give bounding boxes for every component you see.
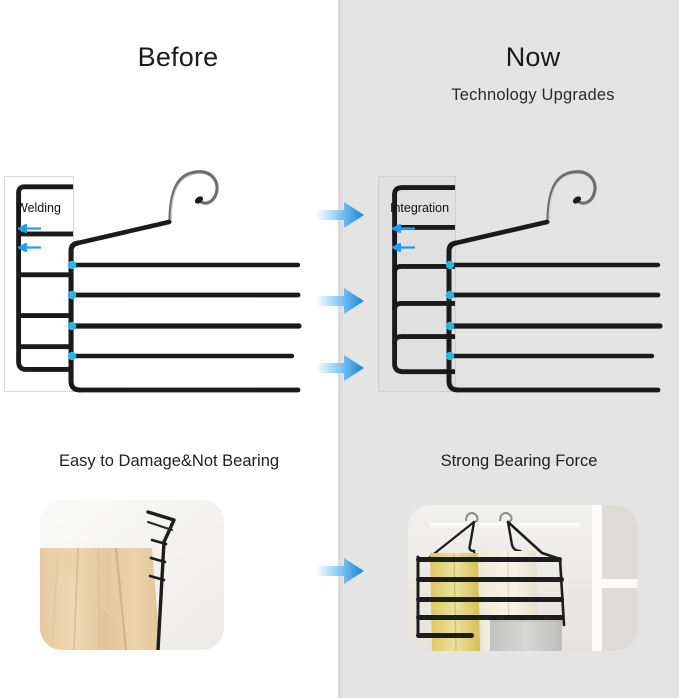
after-photo-scene <box>408 505 637 651</box>
before-photo <box>40 500 224 650</box>
now-title: Now <box>414 42 652 73</box>
joint-marker-icon <box>446 291 454 299</box>
panel-divider <box>338 0 344 698</box>
arrow-right-icon <box>316 287 364 315</box>
joint-marker-icon <box>68 322 76 330</box>
joint-marker-icon <box>68 261 76 269</box>
arrow-right-icon <box>316 354 364 382</box>
arrow-right-icon <box>316 201 364 229</box>
before-title: Before <box>60 42 296 73</box>
welding-label: Welding <box>16 201 61 215</box>
joint-marker-icon <box>446 322 454 330</box>
joint-marker-icon <box>446 352 454 360</box>
comparison-infographic: Before Now Technology Upgrades Welding <box>0 0 679 698</box>
before-hanger-illustration <box>66 150 328 400</box>
arrow-left-icon <box>18 243 42 252</box>
before-caption: Easy to Damage&Not Bearing <box>28 452 310 471</box>
integration-label: Integration <box>390 201 449 215</box>
now-subtitle: Technology Upgrades <box>394 86 672 105</box>
joint-marker-icon <box>68 291 76 299</box>
arrow-left-icon <box>392 243 416 252</box>
joint-marker-icon <box>68 352 76 360</box>
now-caption: Strong Bearing Force <box>392 452 646 471</box>
arrow-left-icon <box>392 224 416 233</box>
now-hanger-illustration <box>444 150 679 400</box>
arrow-left-icon <box>18 224 42 233</box>
joint-marker-icon <box>446 261 454 269</box>
before-photo-scene <box>40 500 224 650</box>
after-photo <box>408 505 637 651</box>
arrow-right-icon <box>316 557 364 585</box>
